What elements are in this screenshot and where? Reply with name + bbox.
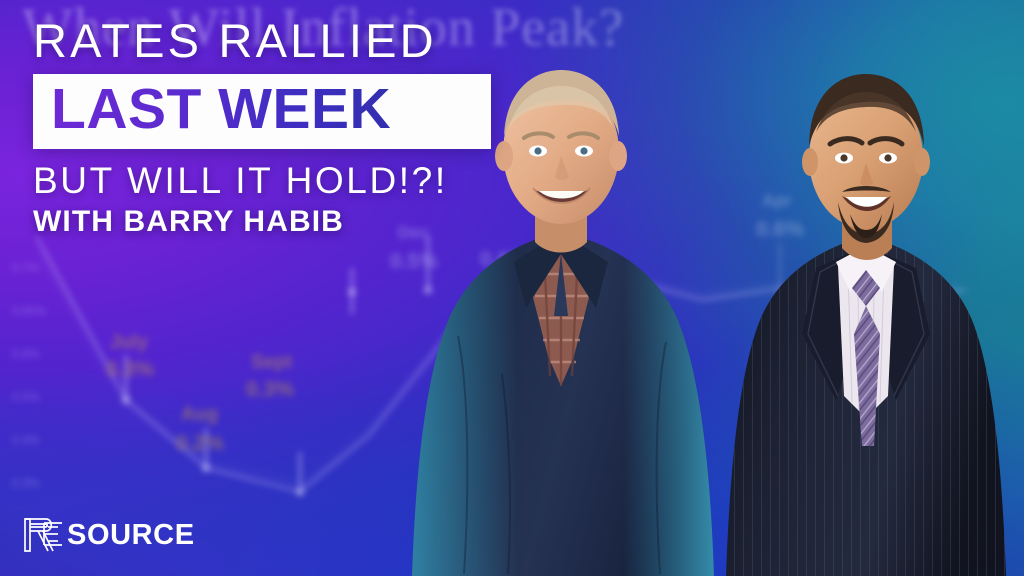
highlight-box: LAST WEEK <box>33 74 491 149</box>
re-monogram-icon <box>22 516 64 554</box>
title-block: RATES RALLIED LAST WEEK BUT WILL IT HOLD… <box>33 16 533 238</box>
headline-line-3: BUT WILL IT HOLD!?! <box>33 161 533 202</box>
headline-line-1: RATES RALLIED <box>33 16 533 67</box>
logo-wordmark: SOURCE <box>67 519 195 552</box>
headline-line-4: WITH BARRY HABIB <box>33 205 533 238</box>
brand-logo[interactable]: SOURCE <box>22 516 195 554</box>
headline-line-2: LAST WEEK <box>51 81 473 138</box>
thumbnail-canvas: 0.7% 0.65% 0.6% 0.5% 0.4% 0.3% <box>0 0 1024 576</box>
